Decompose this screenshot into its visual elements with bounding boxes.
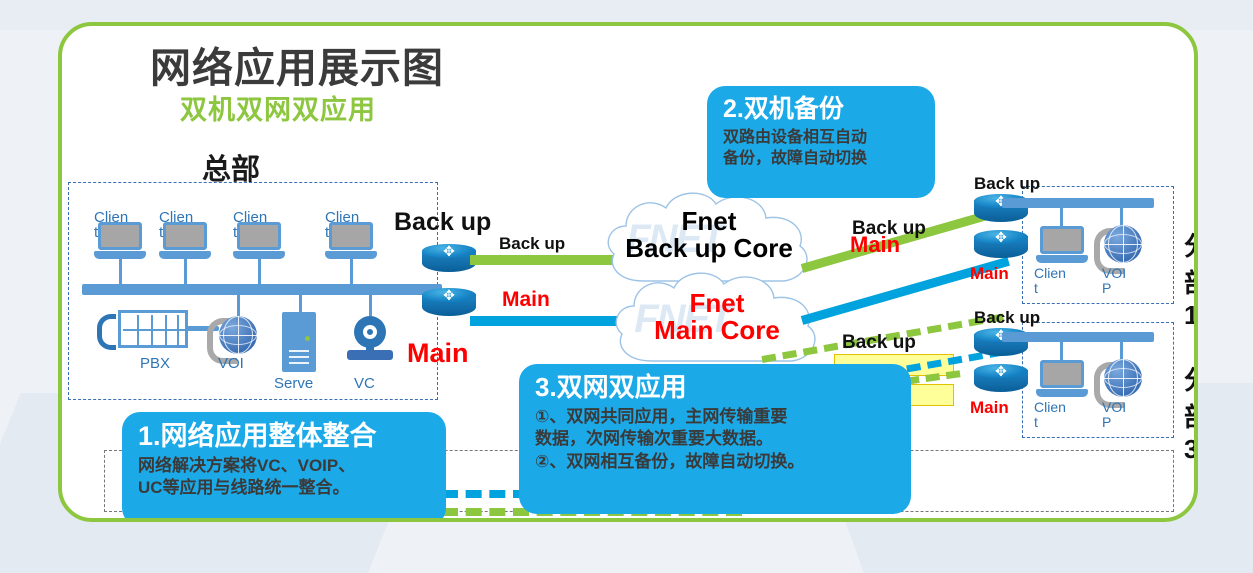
laptop-base <box>159 251 211 259</box>
branch1-client-label: Clien t <box>1034 266 1066 296</box>
hq-client-4-label-part1: Clien <box>325 209 359 226</box>
laptop-icon <box>1036 226 1088 266</box>
callout-1[interactable]: 1.网络应用整体整合 网络解决方案将VC、VOIP、 UC等应用与线路统一整合。 <box>122 412 446 518</box>
hq-client-1-label: Clien t <box>94 210 128 240</box>
hq-router-backup-label: Back up <box>394 208 491 237</box>
cloud-backup-core-text: Fnet Back up Core <box>594 208 824 261</box>
hq-client-1-stem <box>119 258 122 286</box>
branch3-voip-label-part2: P <box>1102 414 1111 430</box>
diagram-canvas: 网络应用展示图 双机双网双应用 总部 Clien t Clien t Clien… <box>62 26 1194 518</box>
branch1-lan-bus <box>1002 198 1154 208</box>
server-line <box>289 362 309 364</box>
branch3-lan-bus <box>1002 332 1154 342</box>
callout-3-body-line1: ①、双网共同应用，主网传输重要 <box>535 407 787 426</box>
branch3-client-label: Clien t <box>1034 400 1066 430</box>
hq-main-link-label: Main <box>502 288 550 312</box>
vc-label: VC <box>354 376 375 391</box>
hq-client-4-label: Clien t <box>325 210 359 240</box>
callout-1-body-line2: UC等应用与线路统一整合。 <box>138 478 350 497</box>
pbx-divider <box>151 315 153 347</box>
router-arrows-icon: ✥ <box>988 231 1014 244</box>
branch1-main-link-label: Main <box>850 232 900 258</box>
server-line <box>289 356 309 358</box>
server-label: Serve <box>274 376 313 391</box>
branch3-voip-stem <box>1120 342 1123 360</box>
callout-1-body: 网络解决方案将VC、VOIP、 UC等应用与线路统一整合。 <box>138 455 430 500</box>
router-icon: ✥ <box>422 288 476 318</box>
hq-client-2-label-part2: t <box>159 224 163 241</box>
laptop-base <box>233 251 285 259</box>
branch3-client-label-part2: t <box>1034 414 1038 430</box>
branch1-voip-label: VOI P <box>1102 266 1126 296</box>
cloud-main-core-line2: Main Core <box>654 315 780 345</box>
hq-client-2-label: Clien t <box>159 210 193 240</box>
diagram-frame: 网络应用展示图 双机双网双应用 总部 Clien t Clien t Clien… <box>58 22 1198 522</box>
hq-router-main-label: Main <box>407 338 469 369</box>
callout-3-heading: 3.双网双应用 <box>535 372 895 404</box>
branch3-name: 分部3 <box>1184 360 1194 465</box>
laptop-screen <box>1040 226 1084 254</box>
branch3-router-main-label: Main <box>970 398 1009 418</box>
router-arrows-icon: ✥ <box>436 245 462 258</box>
hq-client-1-label-part2: t <box>94 224 98 241</box>
callout-3-body-line2: 数据，次网传输次重要大数据。 <box>535 429 773 448</box>
hq-client-1-label-part1: Clien <box>94 209 128 226</box>
globe-parallel <box>1104 368 1142 388</box>
branch3-voip-label: VOI P <box>1102 400 1126 430</box>
callout-3[interactable]: 3.双网双应用 ①、双网共同应用，主网传输重要 数据，次网传输次重要大数据。 ②… <box>519 364 911 514</box>
hq-client-3-label-part2: t <box>233 224 237 241</box>
branch1-client-label-part2: t <box>1034 280 1038 296</box>
branch1-router-main-label: Main <box>970 264 1009 284</box>
page-subtitle: 双机双网双应用 <box>180 88 376 127</box>
branch3-client-label-part1: Clien <box>1034 399 1066 415</box>
pbx-handset-icon <box>97 314 116 350</box>
cloud-main-core: FNET Fnet Main Core <box>602 266 832 376</box>
server-led <box>305 336 310 341</box>
hq-backup-link-label: Back up <box>499 234 565 254</box>
cloud-backup-core-line1: Fnet <box>682 206 737 236</box>
router-icon: ✥ <box>974 230 1028 260</box>
pbx-divider <box>177 315 179 347</box>
page-title: 网络应用展示图 <box>150 34 444 94</box>
vc-camera-lens <box>363 325 377 339</box>
hq-voip-stem <box>237 292 240 318</box>
video-conference-icon <box>347 316 393 362</box>
branch3-router-backup-label: Back up <box>974 308 1040 328</box>
globe-icon <box>219 316 257 354</box>
hq-client-3-label: Clien t <box>233 210 267 240</box>
callout-2-body-line2: 备份，故障自动切换 <box>723 150 867 167</box>
callout-1-body-line1: 网络解决方案将VC、VOIP、 <box>138 456 355 475</box>
callout-2[interactable]: 2.双机备份 双路由设备相互自动 备份，故障自动切换 <box>707 86 935 198</box>
callout-3-body: ①、双网共同应用，主网传输重要 数据，次网传输次重要大数据。 ②、双网相互备份，… <box>535 406 895 473</box>
pbx-divider <box>165 315 167 347</box>
laptop-base <box>94 251 146 259</box>
globe-icon <box>1104 359 1142 397</box>
hq-client-2-label-part1: Clien <box>159 209 193 226</box>
branch3-voip-label-part1: VOI <box>1102 399 1126 415</box>
branch1-voip-stem <box>1120 208 1123 226</box>
globe-icon <box>1104 225 1142 263</box>
laptop-base <box>325 251 377 259</box>
pbx-rail <box>123 329 187 331</box>
router-arrows-icon: ✥ <box>436 289 462 302</box>
pbx-icon <box>118 310 188 348</box>
laptop-base <box>1036 255 1088 263</box>
hq-client-3-label-part1: Clien <box>233 209 267 226</box>
globe-parallel <box>219 325 257 345</box>
voip-label: VOI <box>218 356 244 371</box>
callout-3-body-line3: ②、双网相互备份，故障自动切换。 <box>535 452 804 471</box>
branch1-voip-label-part1: VOI <box>1102 265 1126 281</box>
callout-2-body-line1: 双路由设备相互自动 <box>723 129 867 146</box>
callout-2-body: 双路由设备相互自动 备份，故障自动切换 <box>723 127 919 169</box>
router-icon: ✥ <box>974 364 1028 394</box>
laptop-base <box>1036 389 1088 397</box>
hq-client-4-stem <box>350 258 353 286</box>
cloud-main-core-line1: Fnet <box>690 288 745 318</box>
hq-client-4-label-part2: t <box>325 224 329 241</box>
pbx-divider <box>137 315 139 347</box>
branch1-router-backup-label: Back up <box>974 174 1040 194</box>
hq-client-3-stem <box>258 258 261 286</box>
branch3-backup-link-label: Back up <box>842 332 916 354</box>
hq-vc-stem <box>369 292 372 316</box>
hq-client-2-stem <box>184 258 187 286</box>
cloud-main-core-text: Fnet Main Core <box>602 290 832 343</box>
pbx-label: PBX <box>140 356 170 371</box>
branch1-client-label-part1: Clien <box>1034 265 1066 281</box>
callout-1-heading: 1.网络应用整体整合 <box>138 420 430 453</box>
laptop-icon <box>1036 360 1088 400</box>
globe-parallel <box>1104 234 1142 254</box>
branch1-name: 分部1 <box>1184 226 1194 331</box>
hq-server-stem <box>299 292 302 312</box>
cloud-backup-core-line2: Back up Core <box>625 233 793 263</box>
callout-2-heading: 2.双机备份 <box>723 94 919 125</box>
hq-lan-bus <box>82 284 442 295</box>
router-arrows-icon: ✥ <box>988 365 1014 378</box>
branch1-voip-label-part2: P <box>1102 280 1111 296</box>
vc-camera-base <box>347 350 393 360</box>
router-icon: ✥ <box>422 244 476 274</box>
server-line <box>289 350 309 352</box>
server-icon <box>282 312 316 372</box>
laptop-screen <box>1040 360 1084 388</box>
